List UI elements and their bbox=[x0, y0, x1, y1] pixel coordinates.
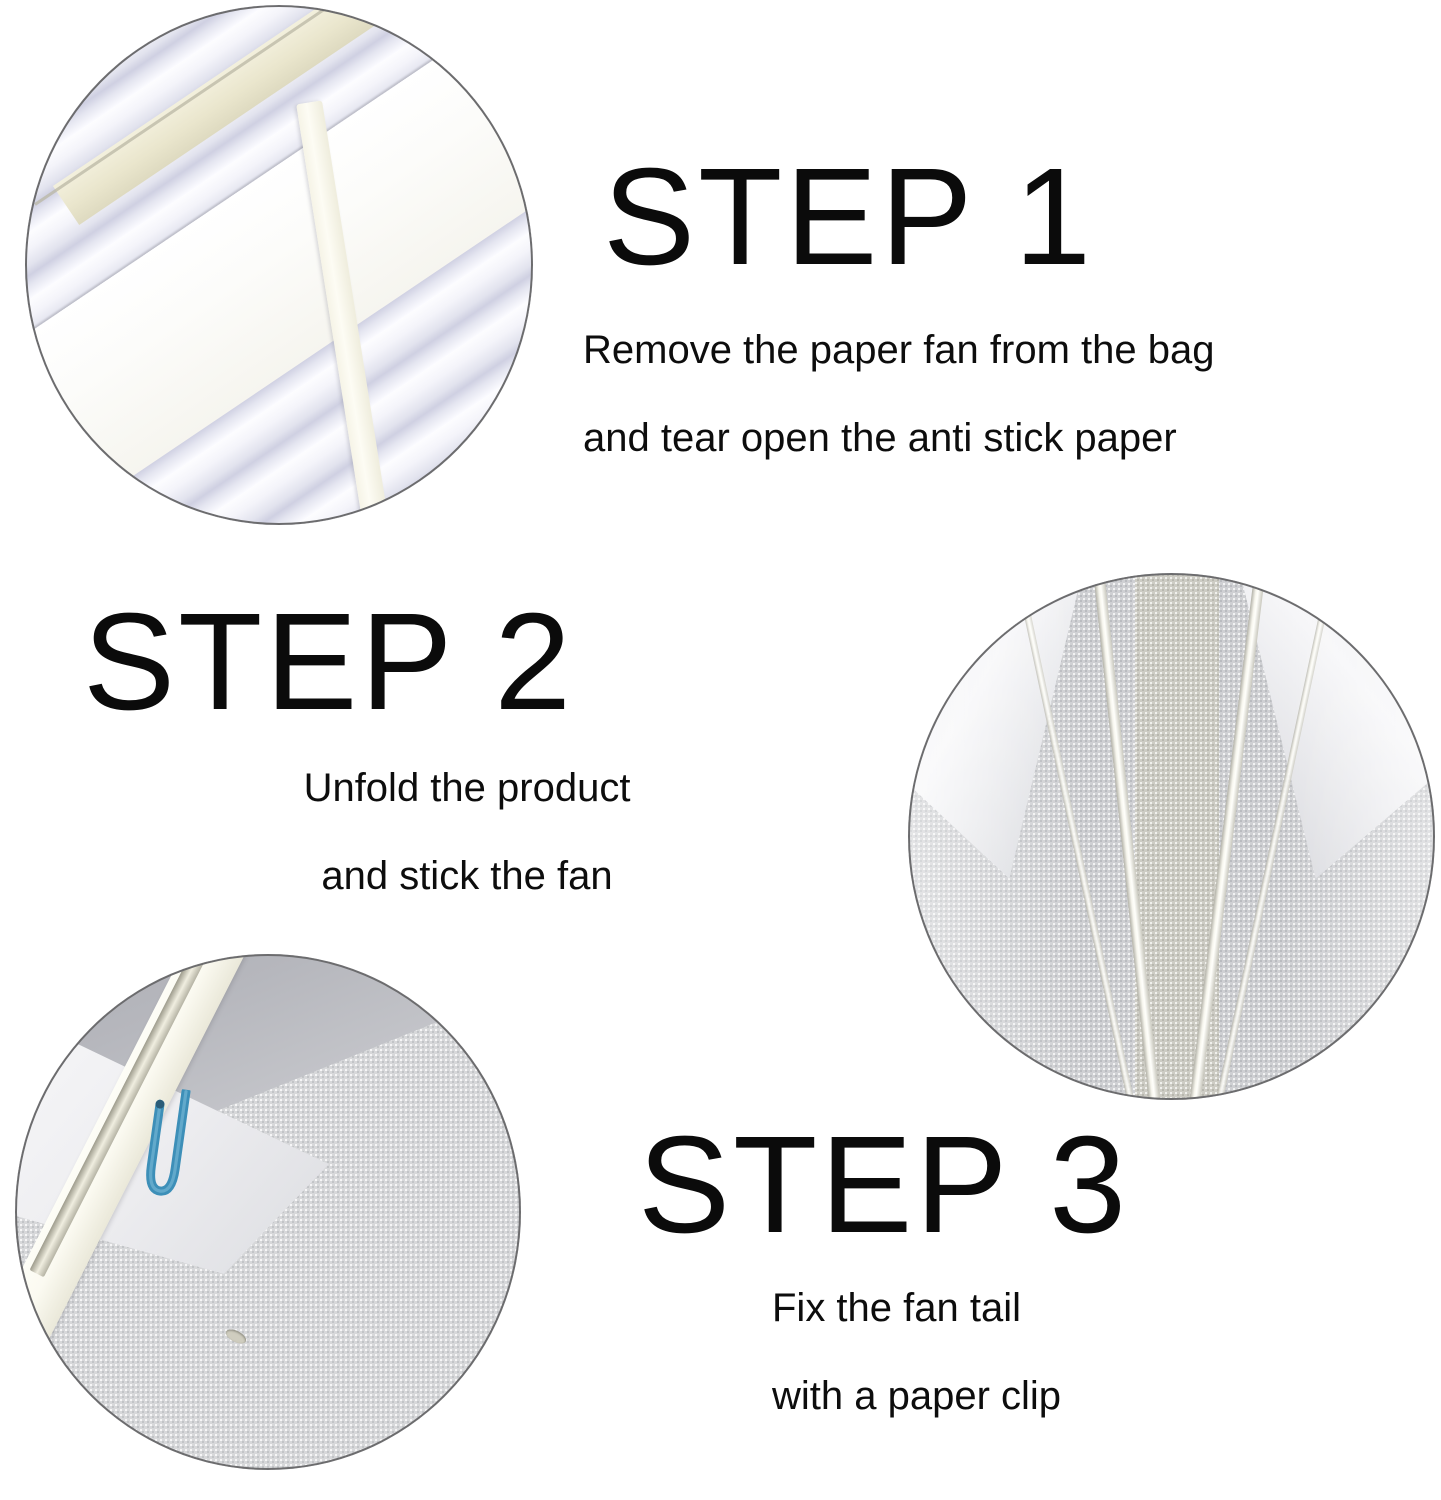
step-2-title: STEP 2 bbox=[83, 593, 574, 731]
step-3-body-line-1: Fix the fan tail bbox=[772, 1264, 1061, 1352]
step-3-title: STEP 3 bbox=[638, 1116, 1129, 1254]
step-1-title: STEP 1 bbox=[603, 148, 1094, 286]
photo-1-content bbox=[25, 5, 533, 525]
highlight-left bbox=[908, 573, 1087, 1100]
photo-fan-tail-with-paper-clip bbox=[15, 954, 521, 1470]
highlight-right bbox=[1277, 573, 1435, 1100]
step-1-body: Remove the paper fan from the bag and te… bbox=[583, 306, 1214, 482]
fan-tail-hole bbox=[224, 1326, 249, 1346]
step-2-body-line-2: and stick the fan bbox=[207, 832, 727, 920]
photo-unfolded-fan-pleats bbox=[908, 573, 1435, 1100]
photo-3-content bbox=[15, 954, 521, 1470]
photo-pleated-fan-with-release-paper bbox=[25, 5, 533, 525]
step-3-body-line-2: with a paper clip bbox=[772, 1352, 1061, 1440]
photo-2-content bbox=[908, 573, 1435, 1100]
step-1-body-line-2: and tear open the anti stick paper bbox=[583, 394, 1214, 482]
step-2-body: Unfold the product and stick the fan bbox=[207, 744, 727, 920]
step-2-body-line-1: Unfold the product bbox=[207, 744, 727, 832]
step-3-body: Fix the fan tail with a paper clip bbox=[772, 1264, 1061, 1440]
instruction-infographic-page: STEP 1 Remove the paper fan from the bag… bbox=[0, 0, 1441, 1500]
step-1-body-line-1: Remove the paper fan from the bag bbox=[583, 306, 1214, 394]
